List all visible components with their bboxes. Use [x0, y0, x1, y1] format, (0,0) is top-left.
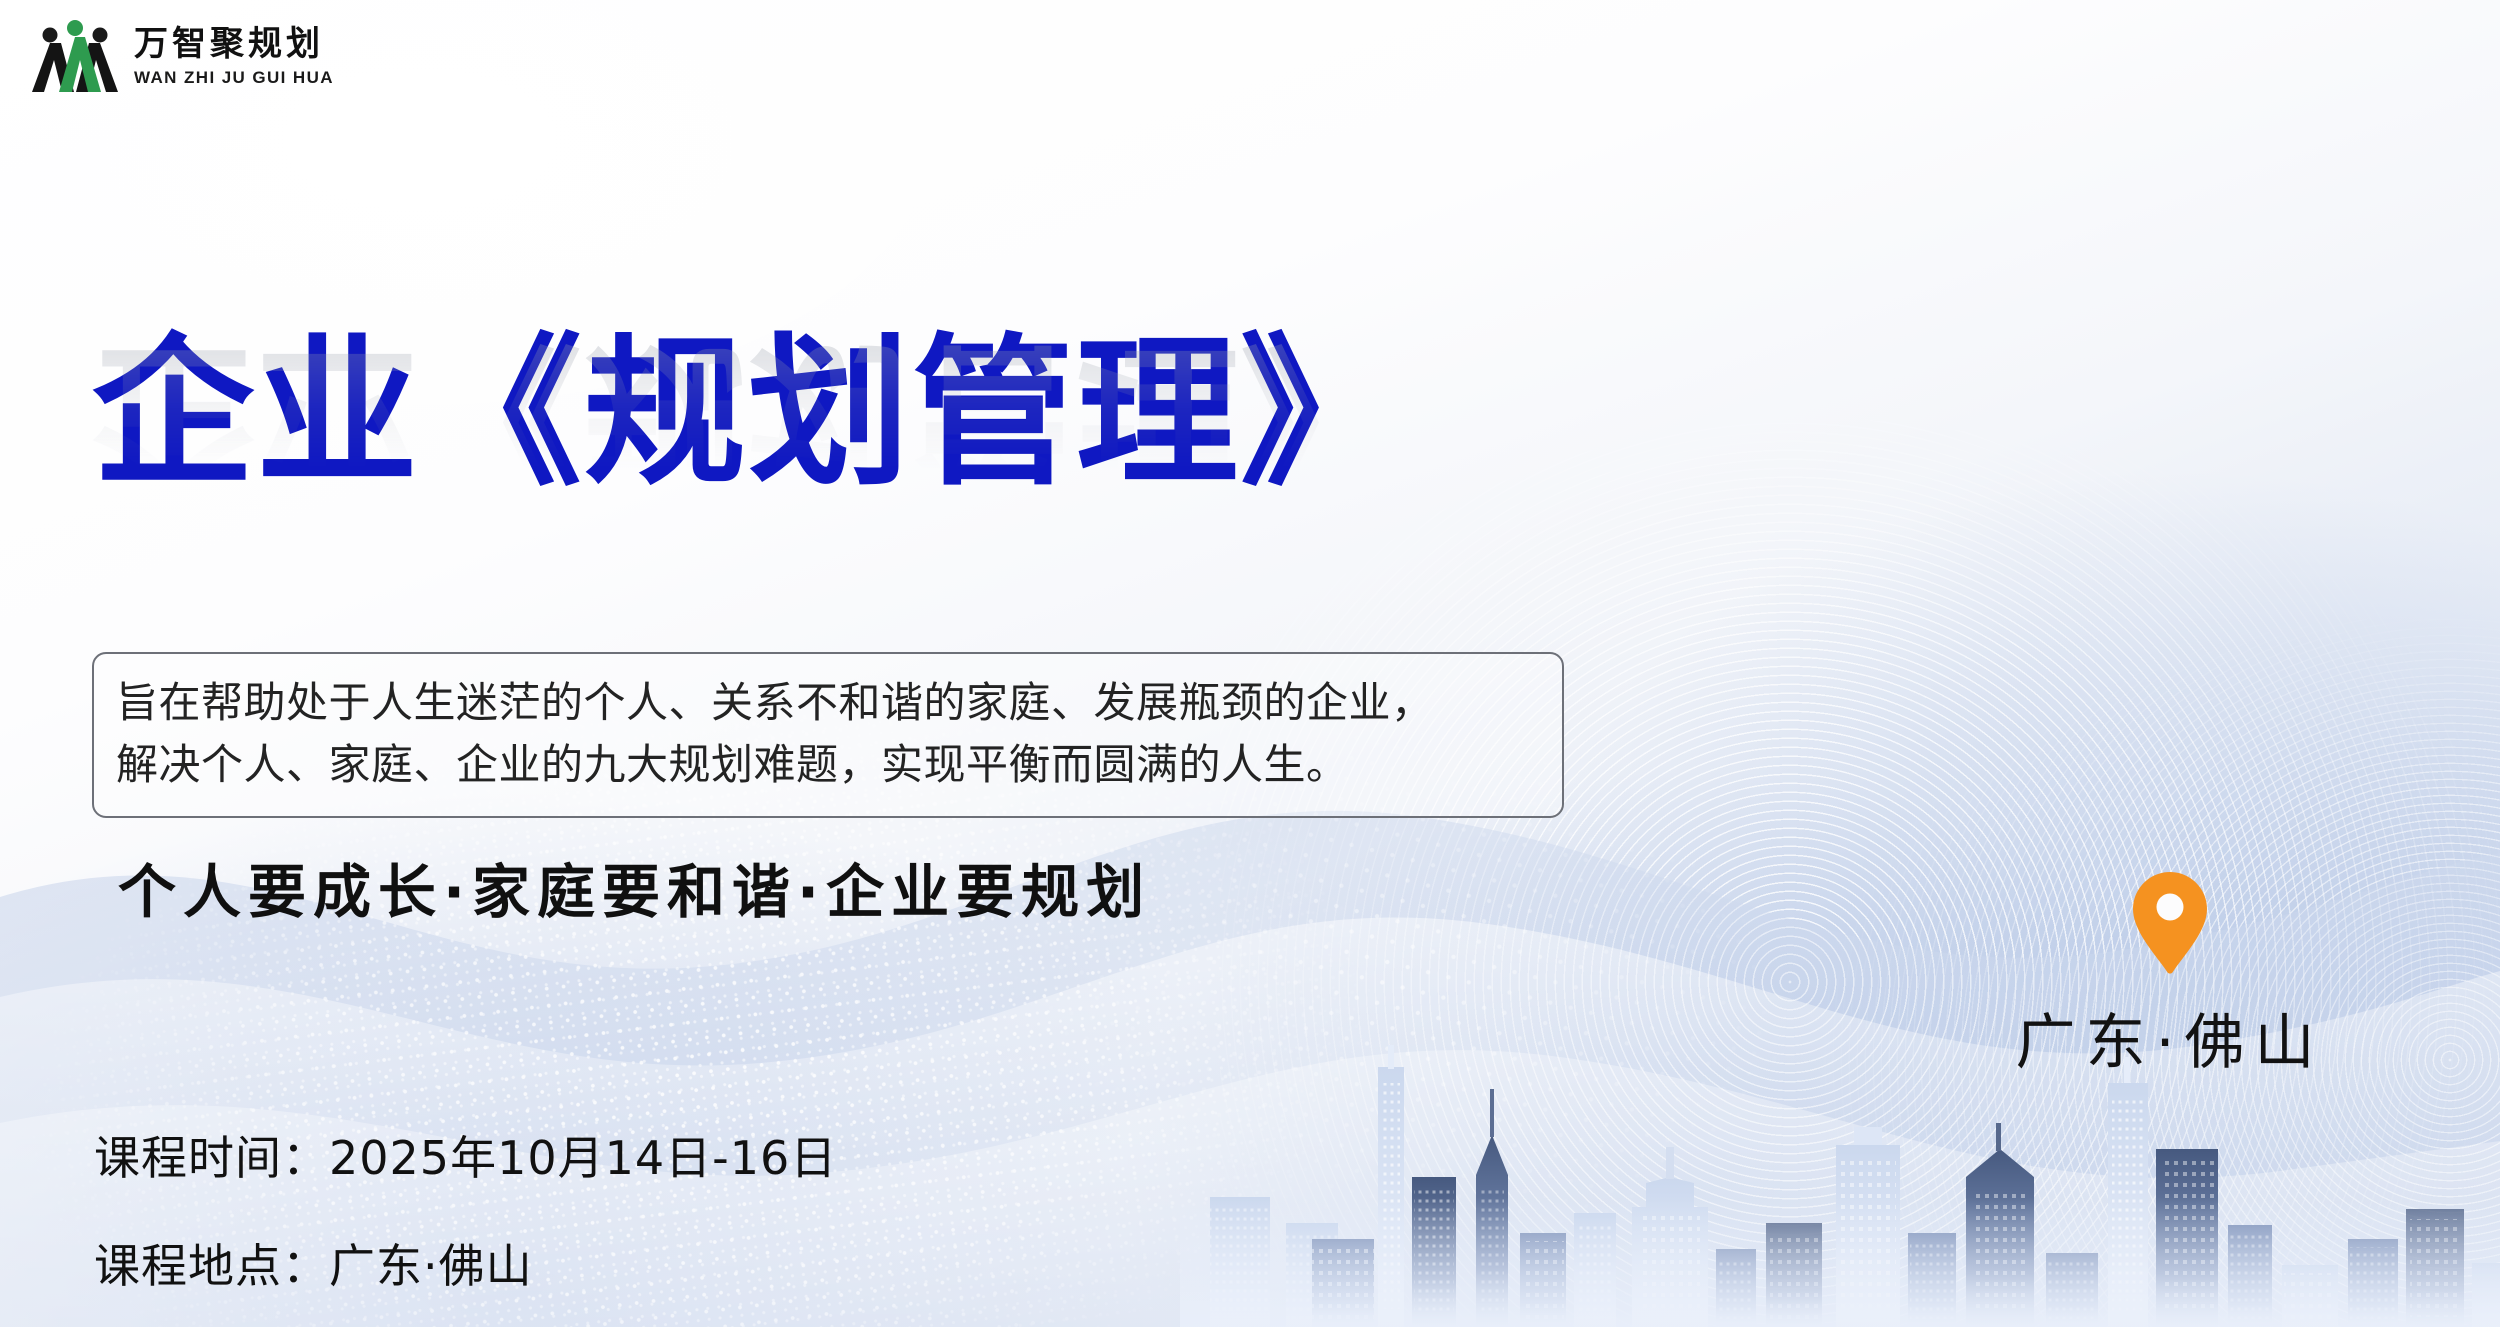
- description-box: 旨在帮助处于人生迷茫的个人、关系不和谐的家庭、发展瓶颈的企业， 解决个人、家庭、…: [92, 652, 1564, 818]
- poster-canvas: 万智聚规划 WAN ZHI JU GUI HUA 企业《规划管理》 企业《规划管…: [0, 0, 2500, 1327]
- skyline-haze: [1180, 1197, 2500, 1327]
- course-info: 课程时间：2025年10月14日-16日 课程地点：广东·佛山: [94, 1122, 837, 1296]
- description-line-2: 解决个人、家庭、企业的九大规划难题，实现平衡而圆满的人生。: [116, 734, 1540, 796]
- map-pin-icon: [2129, 868, 2211, 976]
- description-line-1: 旨在帮助处于人生迷茫的个人、关系不和谐的家庭、发展瓶颈的企业，: [116, 672, 1540, 734]
- brand-text: 万智聚规划 WAN ZHI JU GUI HUA: [134, 28, 334, 86]
- course-place: 课程地点：广东·佛山: [94, 1230, 837, 1296]
- brand-name-cn: 万智聚规划: [134, 28, 334, 62]
- slogan-text: 个人要成长·家庭要和谐·企业要规划: [118, 845, 1151, 929]
- page-title-reflection: 企业《规划管理》: [92, 332, 1692, 500]
- brand-logo: 万智聚规划 WAN ZHI JU GUI HUA: [30, 18, 334, 96]
- brand-name-en: WAN ZHI JU GUI HUA: [134, 69, 334, 86]
- three-people-m-logo-icon: [30, 18, 120, 96]
- location-label: 广东·佛山: [1960, 994, 2380, 1081]
- hero-title-block: 企业《规划管理》 企业《规划管理》: [92, 330, 1692, 669]
- course-date: 课程时间：2025年10月14日-16日: [94, 1122, 837, 1188]
- location-block: 广东·佛山: [1960, 868, 2380, 1081]
